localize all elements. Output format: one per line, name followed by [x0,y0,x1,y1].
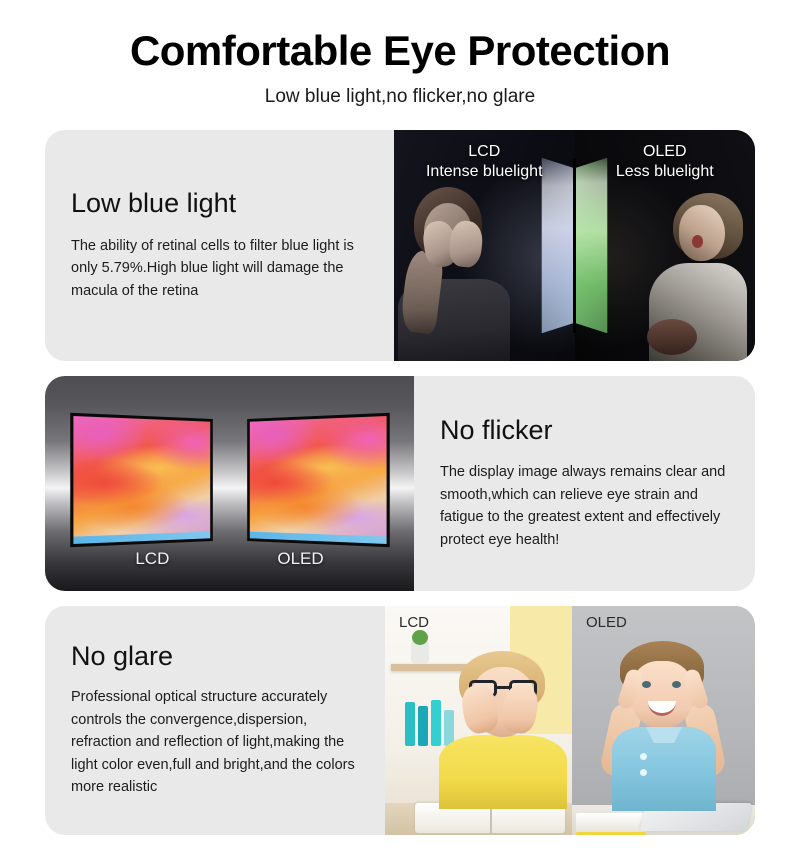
girl-shirt [439,735,567,809]
boy-eye-right [672,681,681,688]
card-body-text: The ability of retinal cells to filter b… [71,235,368,302]
polo-button [640,753,647,760]
media-label-oled: OLED [586,614,627,631]
feature-card-no-flicker: No flicker The display image always rema… [45,376,755,591]
book-spine [418,706,428,746]
page-subtitle: Low blue light,no flicker,no glare [0,86,800,108]
page-header: Comfortable Eye Protection Low blue ligh… [0,0,800,108]
child-mouth [692,235,703,248]
card-text-panel: No glare Professional optical structure … [45,606,385,835]
boy-polo-shirt [612,727,716,811]
card-body-text: Professional optical structure accuratel… [71,686,359,798]
woman-hand-right [448,219,485,268]
media-pane-oled: OLED [572,606,755,835]
prism-seam [573,158,576,334]
monitor-oled [247,413,390,548]
media-label-lcd: LCD [135,549,169,569]
plant-pot-icon [411,642,429,664]
prism-pane-green [575,158,617,334]
card-text-panel: No flicker The display image always rema… [414,376,755,591]
card-heading: No glare [71,642,359,672]
card-media-glare-comparison: LCD [385,606,755,835]
media-pane-lcd: LCD [385,606,572,835]
media-label-row: LCD OLED [45,549,414,569]
card-heading: No flicker [440,416,729,446]
child-smiling-illustration [633,191,753,361]
child-face [679,205,725,261]
card-body-text: The display image always remains clear a… [440,461,729,551]
page-title: Comfortable Eye Protection [0,30,800,72]
boy-eye-left [642,681,651,688]
book-spine [405,702,415,746]
prism-pane-blue [533,158,575,334]
monitor-lcd-screen-image [73,416,210,544]
card-media-monitor-comparison: LCD OLED [45,376,414,591]
child-ball [647,319,697,355]
woman-covering-face-illustration [398,183,528,361]
feature-card-list: Low blue light The ability of retinal ce… [0,130,800,835]
feature-card-low-blue-light: Low blue light The ability of retinal ce… [45,130,755,361]
notebook-icon [576,813,646,833]
monitor-pair [45,416,414,544]
card-media-bluelight-comparison: LCD Intense bluelight OLED Less blueligh… [394,130,755,361]
girl-covering-eyes-illustration [429,651,572,807]
card-text-panel: Low blue light The ability of retinal ce… [45,130,394,361]
media-label-oled: OLED [277,549,323,569]
polo-button [640,769,647,776]
media-label-lcd: LCD [399,614,429,631]
dual-display-prism-graphic [533,158,617,334]
monitor-oled-screen-image [249,416,386,544]
feature-card-no-glare: No glare Professional optical structure … [45,606,755,835]
card-heading: Low blue light [71,189,368,219]
monitor-lcd [70,413,213,548]
boy-smiling-illustration [590,641,740,811]
